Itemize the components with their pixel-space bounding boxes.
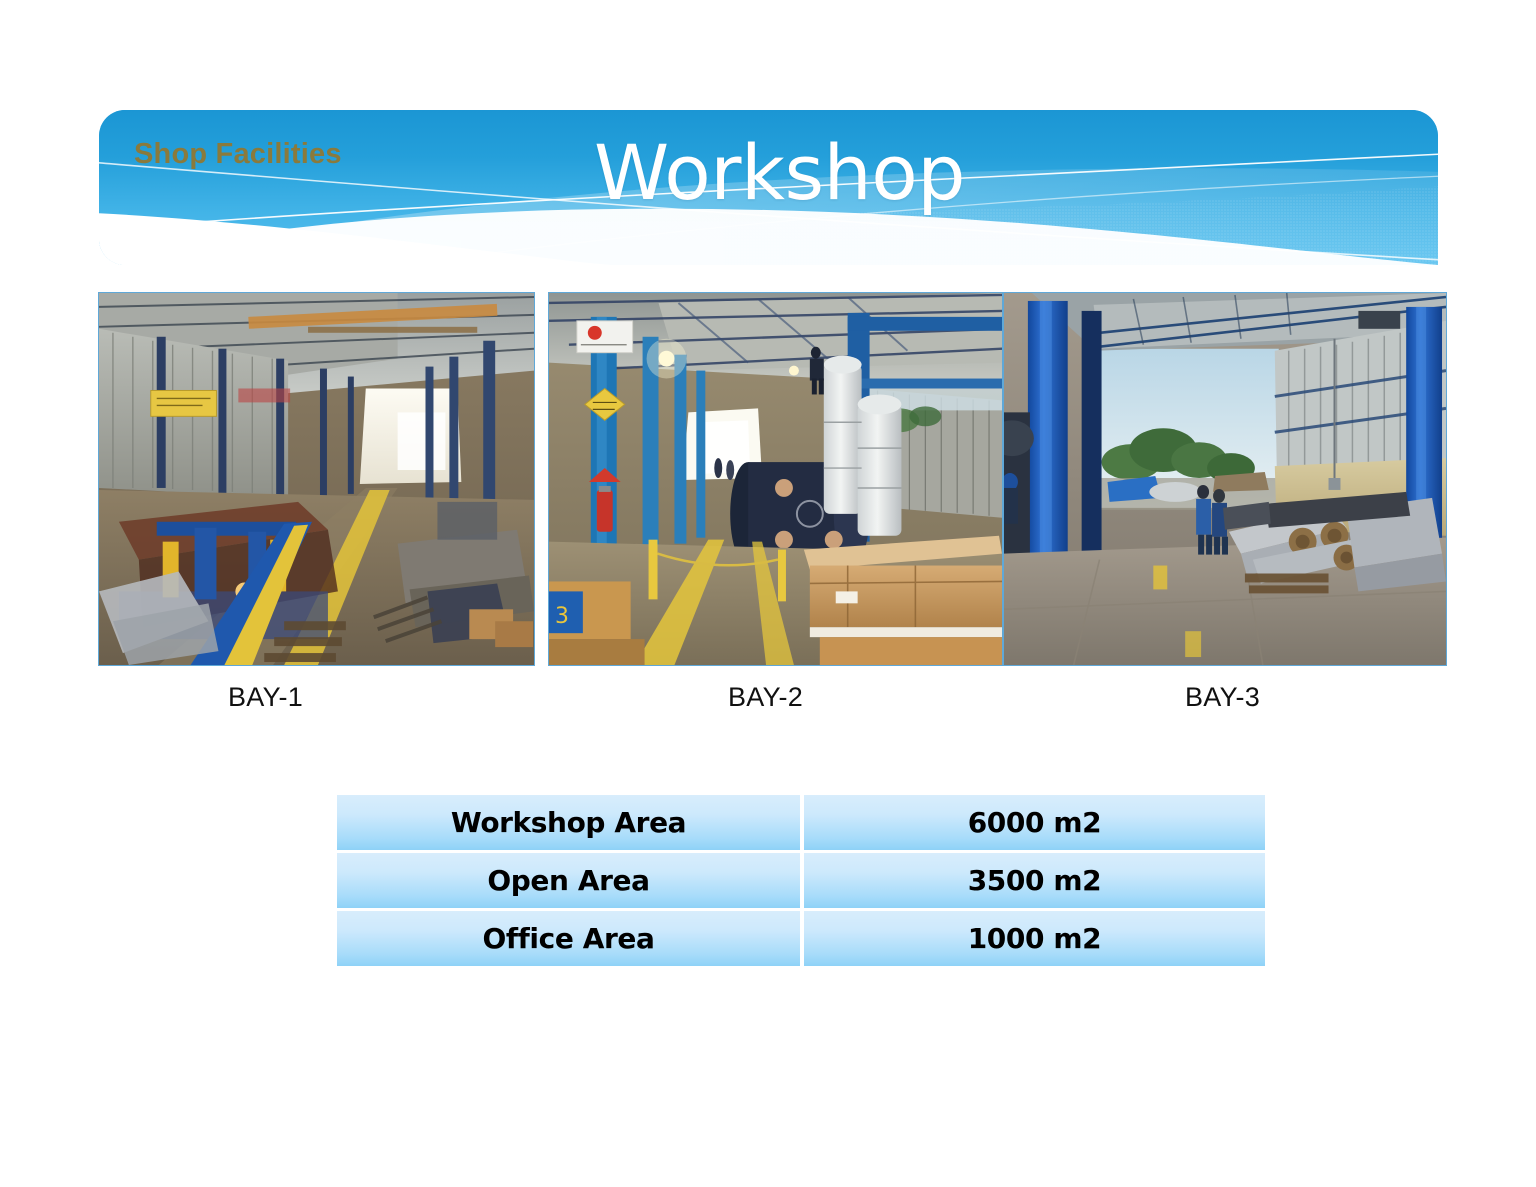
caption-bay-3: BAY-3 bbox=[1185, 682, 1260, 713]
workshop-area-table: Workshop Area 6000 m2 Open Area 3500 m2 … bbox=[337, 795, 1265, 969]
table-cell-value: 6000 m2 bbox=[804, 795, 1265, 850]
banner-kicker: Shop Facilities bbox=[134, 138, 342, 171]
slide-workshop: Shop Facilities Workshop bbox=[0, 0, 1536, 1187]
photo-bay-2[interactable]: 3 bbox=[548, 292, 1003, 666]
caption-bay-2: BAY-2 bbox=[728, 682, 803, 713]
page-title: Workshop bbox=[594, 128, 965, 217]
table-row: Open Area 3500 m2 bbox=[337, 853, 1265, 908]
photo-row: 3 bbox=[0, 292, 1536, 666]
photo-bay-1[interactable] bbox=[98, 292, 535, 666]
photo-bay-3[interactable] bbox=[1003, 292, 1447, 666]
svg-text:3: 3 bbox=[555, 604, 569, 629]
caption-bay-1: BAY-1 bbox=[228, 682, 303, 713]
table-cell-value: 1000 m2 bbox=[804, 911, 1265, 966]
table-row: Office Area 1000 m2 bbox=[337, 911, 1265, 966]
photo-bay-3-image bbox=[1004, 293, 1446, 665]
table-cell-label: Office Area bbox=[337, 911, 800, 966]
table-cell-value: 3500 m2 bbox=[804, 853, 1265, 908]
table-row: Workshop Area 6000 m2 bbox=[337, 795, 1265, 850]
header-banner: Shop Facilities Workshop bbox=[99, 110, 1438, 265]
photo-bay-1-image bbox=[99, 293, 534, 665]
table-cell-label: Open Area bbox=[337, 853, 800, 908]
table-cell-label: Workshop Area bbox=[337, 795, 800, 850]
photo-bay-2-image: 3 bbox=[549, 293, 1002, 665]
